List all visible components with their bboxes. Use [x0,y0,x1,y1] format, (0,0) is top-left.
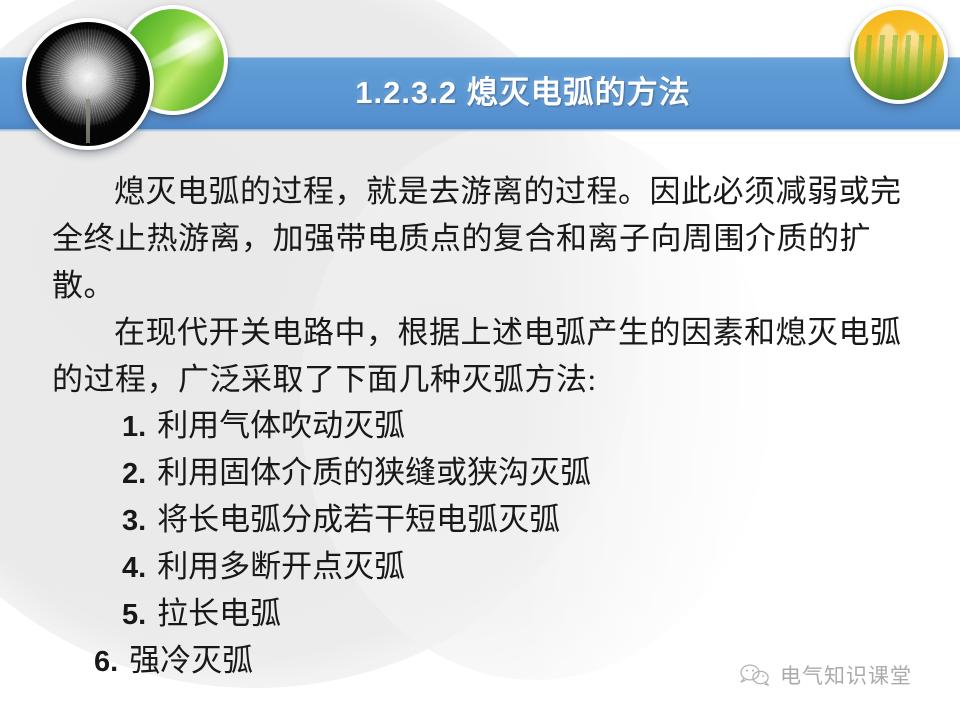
list-item-label: 将长电弧分成若干短电弧灭弧 [157,502,560,537]
list-item-number: 1. [122,411,146,443]
dandelion-stem [86,99,90,143]
list-item: 2.利用固体介质的狭缝或狭沟灭弧 [52,450,914,497]
watermark-label: 电气知识课堂 [780,660,912,690]
tulip-photo [850,6,948,104]
list-item-number: 4. [122,552,146,584]
list-item: 1.利用气体吹动灭弧 [52,403,914,450]
list-item-label: 利用多断开点灭弧 [157,549,405,584]
list-item-label: 利用气体吹动灭弧 [157,408,405,443]
paragraph-2: 在现代开关电路中，根据上述电弧产生的因素和熄灭电弧的过程，广泛采取了下面几种灭弧… [52,309,914,403]
tulip-leaves [854,35,944,100]
list-item: 4.利用多断开点灭弧 [52,544,914,591]
slide-body: 熄灭电弧的过程，就是去游离的过程。因此必须减弱或完全终止热游离，加强带电质点的复… [52,168,914,685]
list-item-number: 6. [94,646,118,678]
list-item: 3.将长电弧分成若干短电弧灭弧 [52,497,914,544]
watermark: 电气知识课堂 [738,660,912,690]
leaf-vein [139,17,228,75]
list-item-number: 3. [122,505,146,537]
list-item-number: 2. [122,458,146,490]
list-item-label: 强冷灭弧 [129,643,253,678]
list-item-label: 拉长电弧 [157,596,281,631]
list-item: 5.拉长电弧 [52,591,914,638]
wechat-icon [738,663,772,687]
list-item-label: 利用固体介质的狭缝或狭沟灭弧 [157,455,591,490]
dandelion-photo [22,18,154,150]
paragraph-1: 熄灭电弧的过程，就是去游离的过程。因此必须减弱或完全终止热游离，加强带电质点的复… [52,168,914,309]
slide-canvas: 1.2.3.2 熄灭电弧的方法 熄灭电弧的过程，就是去游离的过程。因此必须减弱或… [0,0,960,720]
list-item-number: 5. [122,599,146,631]
method-list: 1.利用气体吹动灭弧 2.利用固体介质的狭缝或狭沟灭弧 3.将长电弧分成若干短电… [52,403,914,685]
